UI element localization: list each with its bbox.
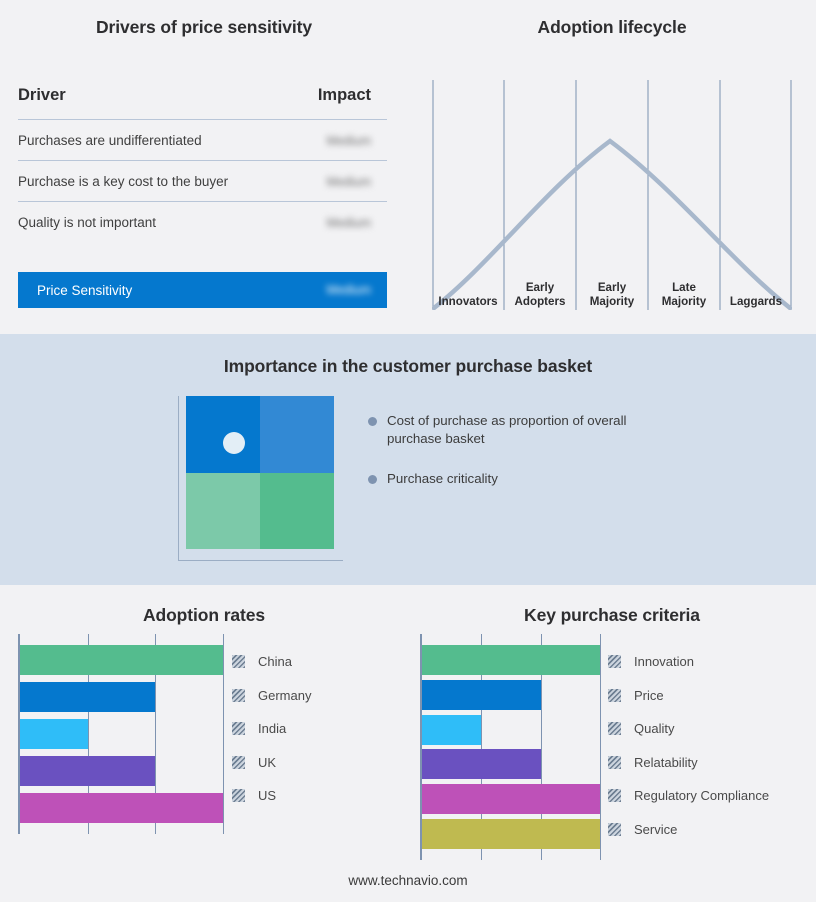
legend-label: Price [634, 688, 664, 703]
legend-item-relatability: Relatability [608, 746, 769, 780]
legend-label: India [258, 721, 286, 736]
legend-label: China [258, 654, 292, 669]
driver-cell: Purchases are undifferentiated [18, 120, 296, 161]
quadrant-grid [186, 396, 334, 549]
hatch-swatch-icon [232, 689, 245, 702]
table-header-row: Driver Impact [18, 86, 387, 120]
legend-item-regulatory-compliance: Regulatory Compliance [608, 779, 769, 813]
hatch-swatch-icon [608, 789, 621, 802]
adoption-bars [20, 645, 223, 823]
hatch-swatch-icon [608, 722, 621, 735]
bar-price [422, 680, 541, 710]
adoption-rates-panel: Adoption rates China Germany India [0, 585, 408, 902]
legend-item-india: India [232, 712, 311, 746]
gridline [600, 634, 601, 860]
key-purchase-criteria-legend: Innovation Price Quality Relatability Re… [608, 645, 769, 846]
legend-label: US [258, 788, 276, 803]
adoption-rates-legend: China Germany India UK US [232, 645, 311, 813]
stage-label-early-adopters: Early Adopters [504, 264, 576, 310]
lifecycle-title: Adoption lifecycle [408, 17, 816, 38]
adoption-rates-title: Adoption rates [0, 605, 408, 626]
adoption-rates-chart [18, 634, 223, 834]
drivers-table: Driver Impact Purchases are undifferenti… [18, 86, 387, 242]
legend-label: Relatability [634, 755, 698, 770]
legend-label: Germany [258, 688, 311, 703]
table-row: Quality is not important Medium [18, 202, 387, 243]
impact-value-blurred: Medium [327, 216, 371, 230]
legend-label: Quality [634, 721, 674, 736]
criteria-plot-area [420, 634, 600, 860]
key-purchase-criteria-chart [420, 634, 600, 860]
legend-item-purchase-criticality: Purchase criticality [368, 470, 658, 488]
hatch-swatch-icon [232, 756, 245, 769]
legend-label: Purchase criticality [387, 470, 498, 488]
stage-line-2: Innovators [432, 295, 504, 309]
price-sensitivity-label: Price Sensitivity [37, 283, 132, 298]
bar-india [20, 719, 88, 749]
quadrant-cell-top-left [186, 396, 260, 473]
bar-regulatory-compliance [422, 784, 600, 814]
quadrant-matrix-chart [178, 396, 343, 561]
legend-label: Regulatory Compliance [634, 788, 769, 803]
column-header-driver: Driver [18, 86, 296, 120]
legend-label: Service [634, 822, 677, 837]
impact-value-blurred: Medium [327, 134, 371, 148]
stage-label-laggards: Laggards [720, 264, 792, 310]
stage-label-late-majority: Late Majority [648, 264, 720, 310]
hatch-swatch-icon [232, 722, 245, 735]
column-header-impact: Impact [296, 86, 387, 120]
bar-us [20, 793, 223, 823]
stage-line-2: Majority [576, 295, 648, 309]
table-row: Purchases are undifferentiated Medium [18, 120, 387, 161]
hatch-swatch-icon [608, 655, 621, 668]
key-purchase-criteria-panel: Key purchase criteria Innovation Price [408, 585, 816, 902]
price-sensitivity-summary-row: Price Sensitivity Medium [18, 272, 387, 308]
hatch-swatch-icon [608, 823, 621, 836]
hatch-swatch-icon [232, 789, 245, 802]
legend-item-cost-of-purchase: Cost of purchase as proportion of overal… [368, 412, 658, 448]
bullet-icon [368, 417, 377, 426]
bar-relatability [422, 749, 541, 779]
quadrant-cell-top-right [260, 396, 334, 473]
hatch-swatch-icon [608, 756, 621, 769]
bar-uk [20, 756, 155, 786]
hatch-swatch-icon [608, 689, 621, 702]
legend-item-germany: Germany [232, 679, 311, 713]
driver-cell: Purchase is a key cost to the buyer [18, 161, 296, 202]
stage-line-2: Adopters [504, 295, 576, 309]
impact-cell: Medium [296, 120, 387, 161]
legend-label: Cost of purchase as proportion of overal… [387, 412, 658, 448]
criteria-bars [422, 645, 600, 849]
legend-item-uk: UK [232, 746, 311, 780]
legend-label: Innovation [634, 654, 694, 669]
bullet-icon [368, 475, 377, 484]
bar-service [422, 819, 600, 849]
stage-line-2: Majority [648, 295, 720, 309]
stage-label-innovators: Innovators [432, 264, 504, 310]
bar-quality [422, 715, 481, 745]
impact-value-blurred: Medium [327, 175, 371, 189]
footer-url: www.technavio.com [0, 873, 816, 888]
quadrant-cell-bottom-right [260, 473, 334, 550]
stage-line-1: Late [648, 281, 720, 295]
driver-cell: Quality is not important [18, 202, 296, 243]
gridline [223, 634, 224, 834]
impact-cell: Medium [296, 161, 387, 202]
purchase-basket-panel: Importance in the customer purchase bask… [0, 334, 816, 585]
criteria-title: Key purchase criteria [408, 605, 816, 626]
impact-cell: Medium [296, 202, 387, 243]
legend-label: UK [258, 755, 276, 770]
bar-china [20, 645, 223, 675]
legend-item-quality: Quality [608, 712, 769, 746]
drivers-title: Drivers of price sensitivity [0, 17, 408, 38]
bar-germany [20, 682, 155, 712]
stage-line-1: Early [504, 281, 576, 295]
adoption-plot-area [18, 634, 223, 834]
table-row: Purchase is a key cost to the buyer Medi… [18, 161, 387, 202]
legend-item-innovation: Innovation [608, 645, 769, 679]
legend-item-service: Service [608, 813, 769, 847]
stage-label-early-majority: Early Majority [576, 264, 648, 310]
legend-item-price: Price [608, 679, 769, 713]
hatch-swatch-icon [232, 655, 245, 668]
quadrant-position-marker [223, 432, 245, 454]
bar-innovation [422, 645, 600, 675]
basket-legend: Cost of purchase as proportion of overal… [368, 412, 658, 510]
price-sensitivity-impact-blurred: Medium [327, 283, 371, 297]
drivers-panel: Drivers of price sensitivity Driver Impa… [0, 0, 408, 334]
basket-title: Importance in the customer purchase bask… [0, 356, 816, 377]
lifecycle-stage-labels: Innovators Early Adopters Early Majority… [432, 264, 792, 310]
stage-line-1: Early [576, 281, 648, 295]
adoption-lifecycle-panel: Adoption lifecycle Innovators Early Adop… [408, 0, 816, 334]
legend-item-us: US [232, 779, 311, 813]
stage-line-2: Laggards [720, 295, 792, 309]
legend-item-china: China [232, 645, 311, 679]
quadrant-cell-bottom-left [186, 473, 260, 550]
